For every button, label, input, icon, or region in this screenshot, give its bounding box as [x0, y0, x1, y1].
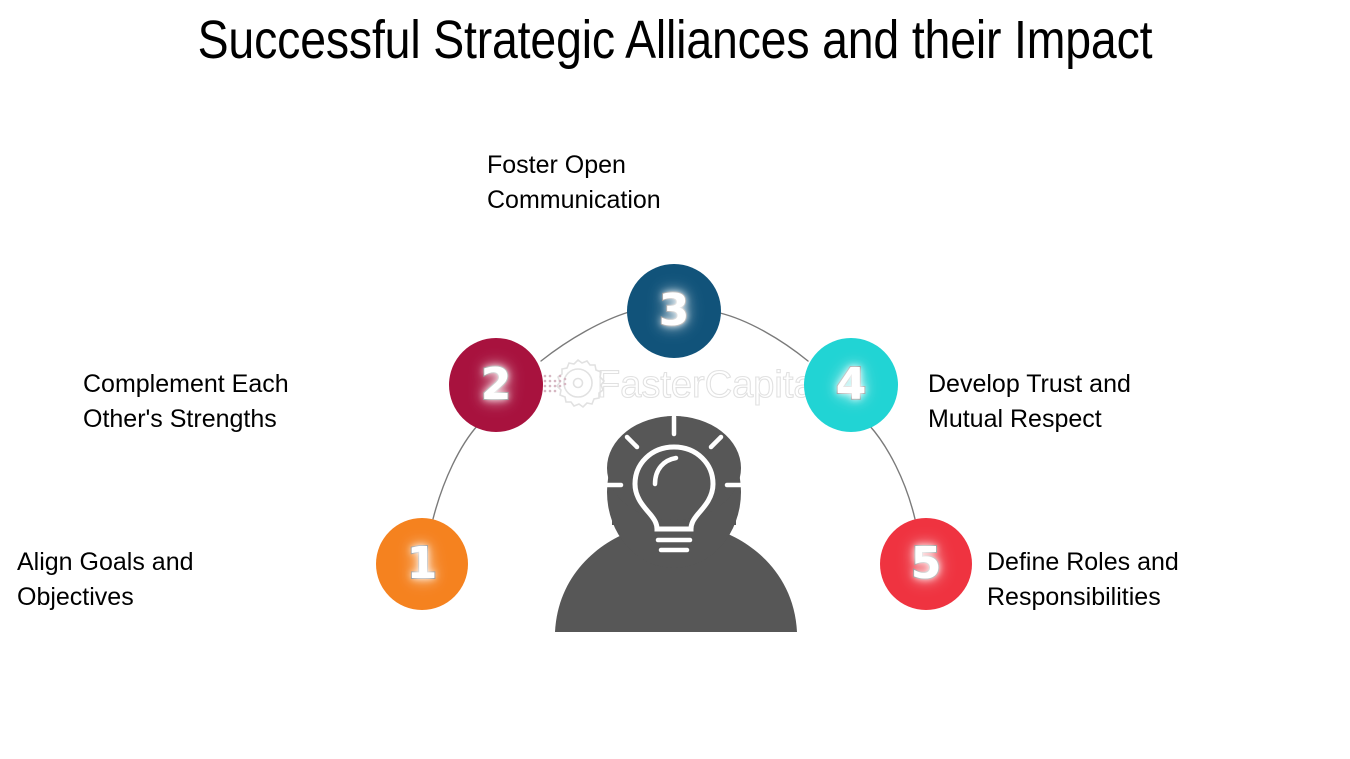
step-label-2: Complement Each Other's Strengths	[83, 367, 373, 436]
step-label-1: Align Goals and Objectives	[17, 545, 307, 614]
step-number-1: 1	[407, 542, 438, 586]
connector-2-3	[541, 312, 629, 361]
step-number-4: 4	[836, 363, 867, 407]
connector-4-5	[869, 425, 915, 519]
step-circle-3[interactable]: 3	[627, 264, 721, 358]
step-label-4: Develop Trust and Mutual Respect	[928, 367, 1228, 436]
step-circle-2[interactable]: 2	[449, 338, 543, 432]
step-label-3: Foster Open Communication	[487, 148, 787, 217]
step-number-3: 3	[659, 289, 690, 333]
step-circle-5[interactable]: 5	[880, 518, 972, 610]
connector-1-2	[433, 425, 478, 519]
step-circle-4[interactable]: 4	[804, 338, 898, 432]
step-number-5: 5	[911, 542, 942, 586]
step-number-2: 2	[481, 363, 512, 407]
step-label-5: Define Roles and Responsibilities	[987, 545, 1287, 614]
connector-3-4	[720, 313, 808, 361]
infographic-canvas: Successful Strategic Alliances and their…	[0, 0, 1350, 759]
step-circle-1[interactable]: 1	[376, 518, 468, 610]
